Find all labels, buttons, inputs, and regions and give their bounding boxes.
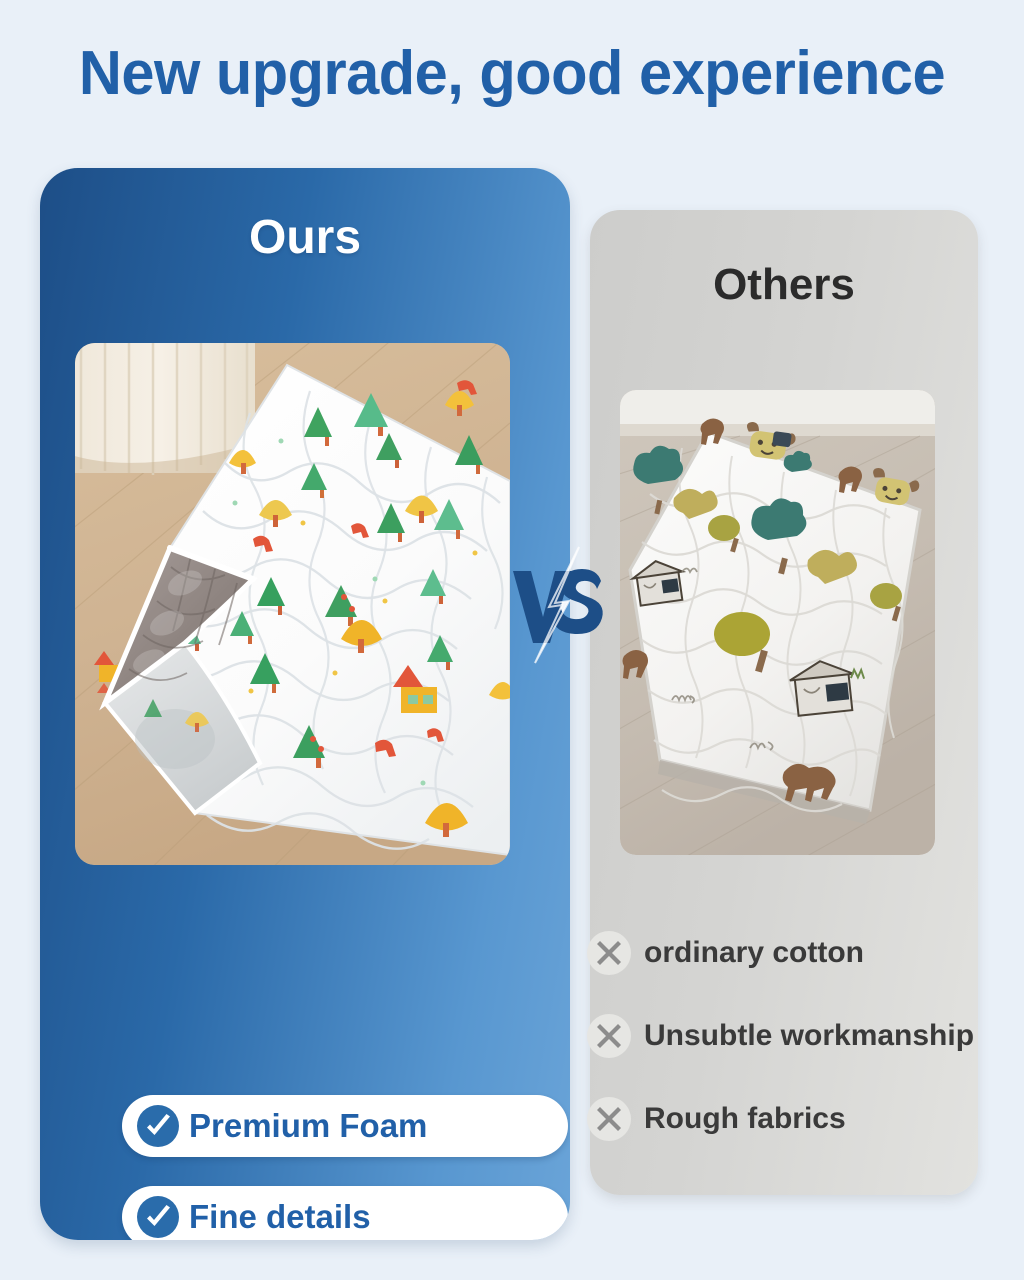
ours-feature-row-2[interactable]: Fine details (122, 1186, 568, 1240)
vs-badge (505, 545, 615, 665)
page-title: New upgrade, good experience (20, 38, 1003, 109)
x-circle-icon (586, 930, 632, 976)
ours-feature-label-2: Fine details (189, 1198, 371, 1236)
ours-feature-row-1[interactable]: Premium Foam (122, 1095, 568, 1157)
others-feature-row-3[interactable]: Rough fabrics (586, 1096, 846, 1142)
others-feature-row-1[interactable]: ordinary cotton (586, 930, 864, 976)
ours-product-photo (75, 343, 510, 865)
x-circle-icon (586, 1096, 632, 1142)
x-circle-icon (586, 1013, 632, 1059)
comparison-card-ours: Ours (40, 168, 570, 1240)
ours-heading: Ours (40, 210, 570, 265)
others-feature-label-1: ordinary cotton (644, 936, 864, 970)
ours-feature-label-1: Premium Foam (189, 1107, 427, 1145)
check-circle-icon (136, 1195, 180, 1239)
others-feature-row-2[interactable]: Unsubtle workmanship (586, 1013, 974, 1059)
others-feature-label-2: Unsubtle workmanship (644, 1019, 974, 1053)
others-feature-label-3: Rough fabrics (644, 1102, 846, 1136)
check-circle-icon (136, 1104, 180, 1148)
others-heading: Others (590, 260, 978, 310)
others-product-photo (620, 390, 935, 855)
